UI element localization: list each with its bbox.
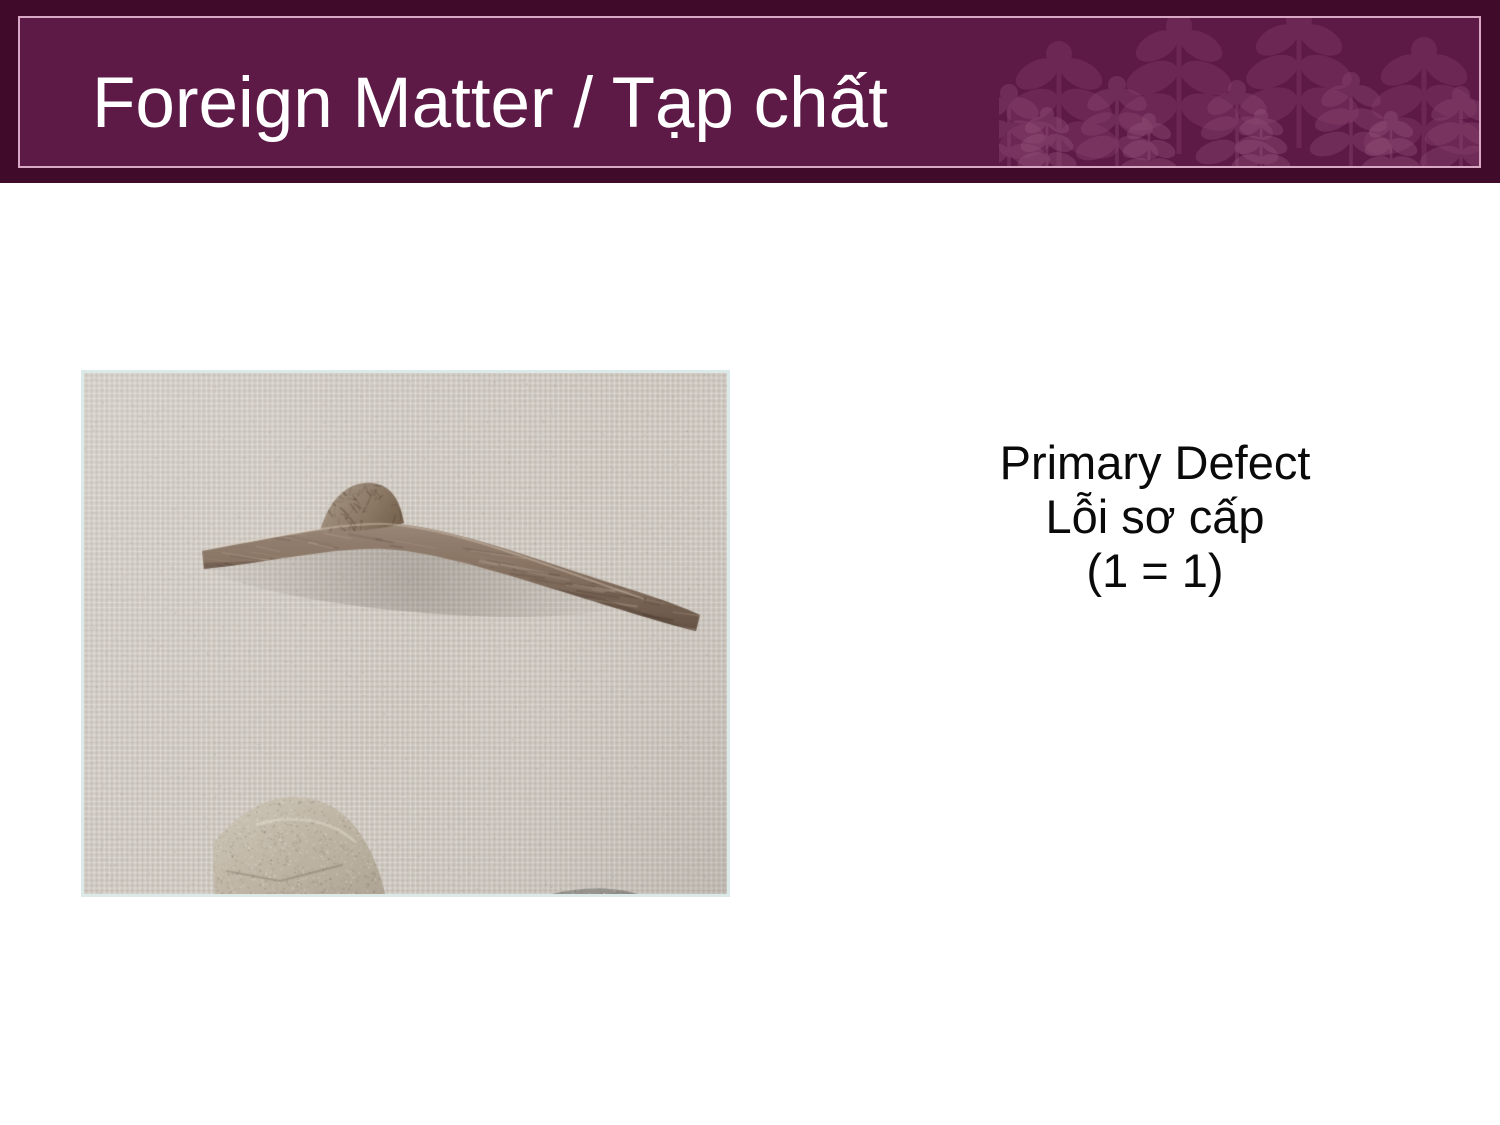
caption-block: Primary Defect Lỗi sơ cấp (1 = 1) [830, 436, 1480, 598]
foreign-matter-photo [81, 370, 730, 897]
title-inner-panel: Foreign Matter / Tạp chất [18, 16, 1481, 168]
caption-line-primary-defect: Primary Defect [830, 436, 1480, 490]
slide-title-band: Foreign Matter / Tạp chất [0, 0, 1500, 183]
foreign-matter-photo-canvas [84, 373, 727, 894]
caption-line-ratio: (1 = 1) [830, 544, 1480, 598]
stylized-plant-pattern-icon [999, 18, 1479, 166]
caption-line-loi-so-cap: Lỗi sơ cấp [830, 490, 1480, 544]
page-title: Foreign Matter / Tạp chất [92, 68, 888, 139]
